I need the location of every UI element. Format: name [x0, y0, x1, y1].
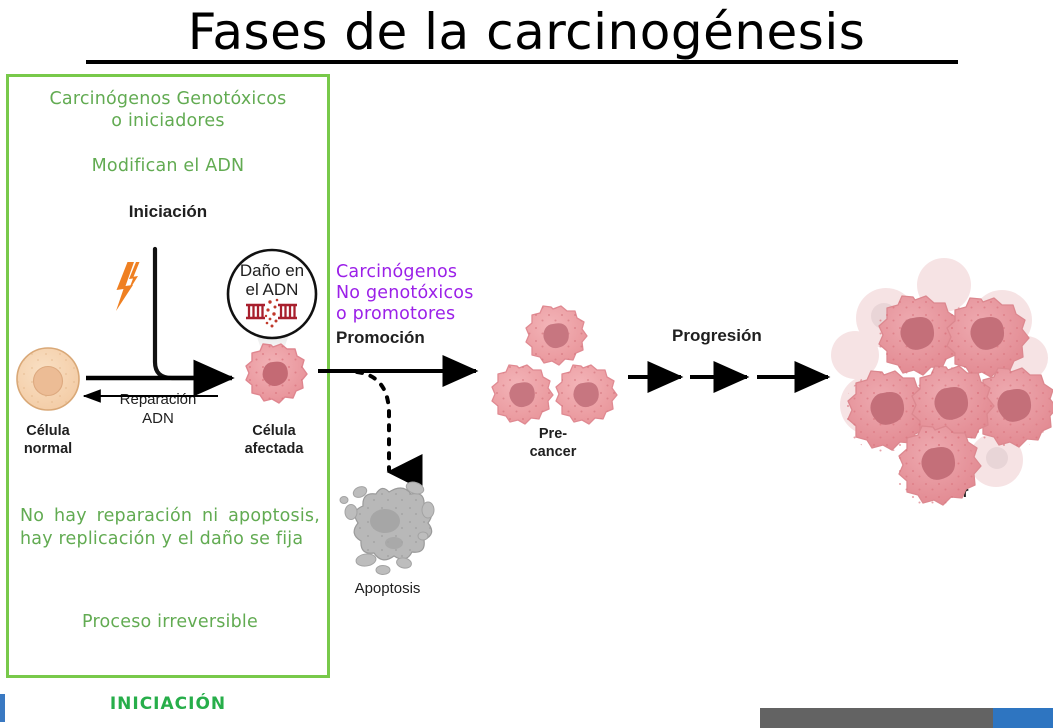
label-celula-afectada: Célula afectada	[228, 422, 320, 458]
nongenotoxic-promoters-text: Carcinógenos No genotóxicos o promotores	[336, 262, 474, 325]
label-apoptosis: Apoptosis	[330, 579, 445, 598]
cancer-tumor-graphic	[831, 258, 1053, 507]
precancer-cells-graphic	[492, 306, 617, 424]
apoptosis-cell-graphic	[340, 480, 434, 575]
carcinogenesis-slide: Fases de la carcinogénesis Carcinógenos …	[0, 0, 1053, 728]
initiation-phase-caption: INICIACIÓN	[6, 694, 330, 714]
label-cancer: Cancer	[884, 484, 1004, 502]
watermark-accent	[993, 708, 1053, 728]
stage-label-iniciacion: Iniciación	[6, 202, 330, 222]
page-title: Fases de la carcinogénesis	[0, 2, 1053, 62]
label-reparacion-adn: Reparación ADN	[104, 390, 212, 428]
stage-label-progresion: Progresión	[672, 326, 762, 346]
no-repair-text: No hay reparación ni apoptosis, hay repl…	[20, 505, 320, 551]
label-pre-cancer: Pre- cancer	[508, 425, 598, 461]
title-underline	[86, 60, 958, 64]
biorender-watermark	[760, 708, 1053, 728]
left-edge-marker	[0, 694, 5, 722]
genotoxic-carcinogens-heading: Carcinógenos Genotóxicos o iniciadores	[12, 88, 324, 132]
stage-label-promocion: Promoción	[336, 328, 425, 348]
modifies-dna-text: Modifican el ADN	[12, 155, 324, 177]
apoptosis-branch-arrow	[357, 372, 389, 470]
label-celula-normal: Célula normal	[8, 422, 88, 458]
irreversible-process-text: Proceso irreversible	[20, 611, 320, 633]
